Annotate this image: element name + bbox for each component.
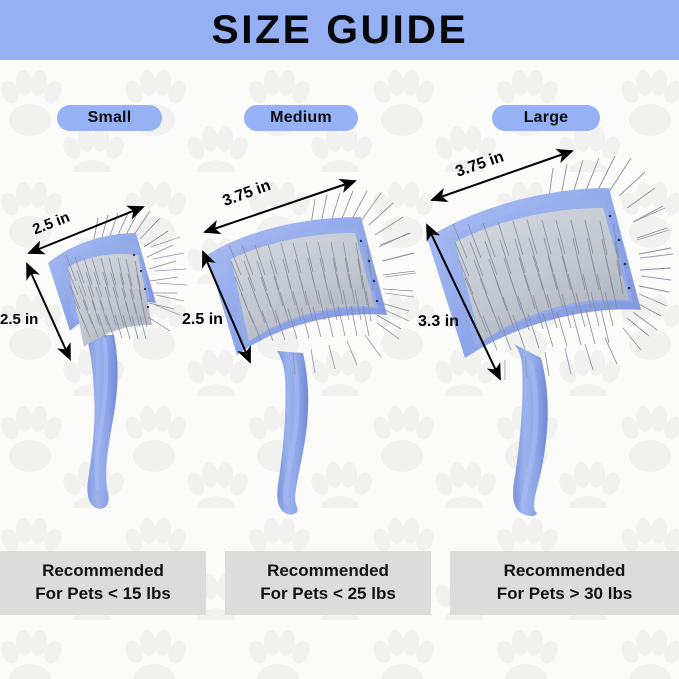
dimension-label-medium-height: 2.5 in xyxy=(182,311,223,329)
recommendation-box-small: Recommended For Pets < 15 lbs xyxy=(0,551,206,615)
recommendation-line-1: Recommended xyxy=(42,560,164,583)
recommendation-box-large: Recommended For Pets > 30 lbs xyxy=(450,551,679,615)
header-banner: SIZE GUIDE xyxy=(0,0,679,60)
recommendation-line-2: For Pets < 25 lbs xyxy=(260,583,396,606)
recommendation-line-2: For Pets < 15 lbs xyxy=(35,583,171,606)
page-title: SIZE GUIDE xyxy=(211,10,468,50)
dimension-label-small-height: 2.5 in xyxy=(0,311,38,328)
size-badge-large: Large xyxy=(492,105,600,131)
size-badge-small: Small xyxy=(57,105,162,131)
recommendation-line-2: For Pets > 30 lbs xyxy=(497,583,633,606)
recommendation-line-1: Recommended xyxy=(267,560,389,583)
size-badge-medium: Medium xyxy=(244,105,358,131)
recommendation-box-medium: Recommended For Pets < 25 lbs xyxy=(225,551,431,615)
size-guide-infographic: SIZE GUIDE Small Medium Large xyxy=(0,0,679,679)
brush-illustration-medium xyxy=(175,155,420,515)
dimension-label-large-height: 3.3 in xyxy=(418,313,459,331)
recommendation-line-1: Recommended xyxy=(504,560,626,583)
